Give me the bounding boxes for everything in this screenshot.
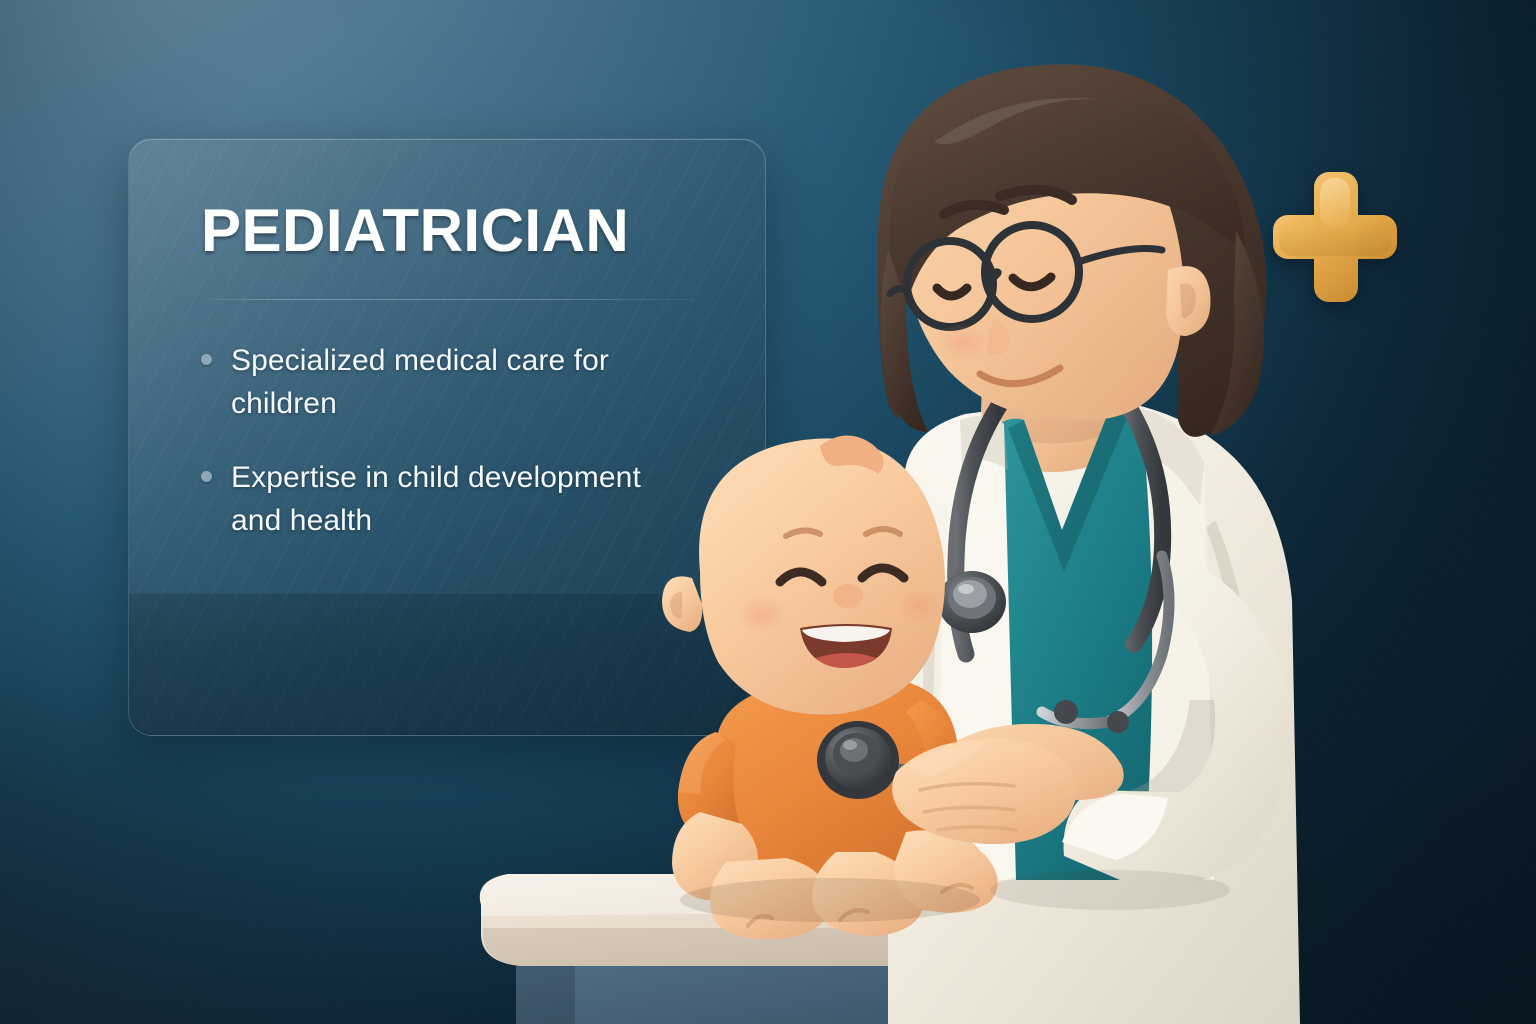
list-item: Expertise in child development and healt… <box>201 457 765 542</box>
bullet-icon <box>201 471 212 482</box>
feature-text: Expertise in child development and healt… <box>231 457 661 542</box>
bullet-icon <box>201 354 212 365</box>
list-item: Specialized medical care for children <box>201 340 765 425</box>
cross-highlight <box>1320 178 1350 228</box>
card-content: PEDIATRICIAN Specialized medical care fo… <box>129 139 765 542</box>
banner-canvas: PEDIATRICIAN Specialized medical care fo… <box>0 0 1536 1024</box>
cross-shading <box>1279 224 1391 256</box>
feature-text: Specialized medical care for children <box>231 340 661 425</box>
info-card: PEDIATRICIAN Specialized medical care fo… <box>128 138 766 736</box>
title-divider <box>201 299 699 300</box>
feature-list: Specialized medical care for children Ex… <box>201 340 765 542</box>
page-title: PEDIATRICIAN <box>201 201 765 261</box>
medical-cross-icon <box>1273 172 1397 302</box>
card-footer-band <box>129 593 765 735</box>
